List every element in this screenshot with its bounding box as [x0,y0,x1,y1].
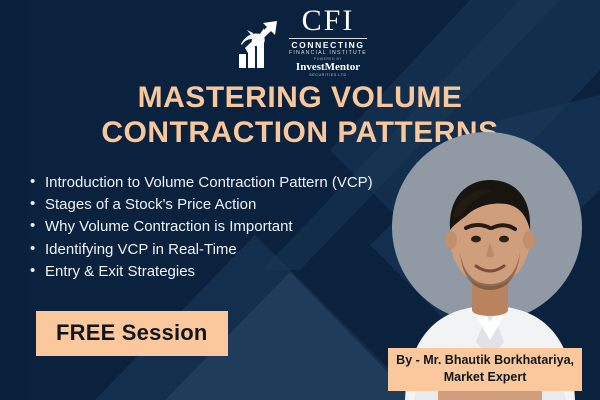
logo-partner: InvestMentor [296,62,360,73]
speaker-role: Market Expert [396,369,574,386]
speaker-credit: By - Mr. Bhautik Borkhatariya, Market Ex… [388,348,582,391]
list-item: Identifying VCP in Real-Time [30,239,390,261]
logo-tagline-sub: FINANCIAL INSTITUTE [289,51,367,56]
list-item: Stages of a Stock's Price Action [30,194,390,216]
logo-brand-text: CFI [302,6,355,36]
promo-banner: CFI CONNECTING FINANCIAL INSTITUTE POWER… [0,0,600,400]
list-item: Entry & Exit Strategies [30,261,390,283]
speaker-name: By - Mr. Bhautik Borkhatariya, [396,353,574,367]
topics-list: Introduction to Volume Contraction Patte… [30,172,390,283]
logo-divider [289,38,367,39]
free-session-badge: FREE Session [36,311,228,356]
list-item: Introduction to Volume Contraction Patte… [30,172,390,194]
list-item: Why Volume Contraction is Important [30,216,390,238]
logo-tagline: CONNECTING [291,41,364,50]
brand-logo: CFI CONNECTING FINANCIAL INSTITUTE POWER… [0,6,600,78]
bull-arrow-chart-icon [233,14,285,70]
logo-partner-sub: SECURITIES LTD [309,74,347,78]
